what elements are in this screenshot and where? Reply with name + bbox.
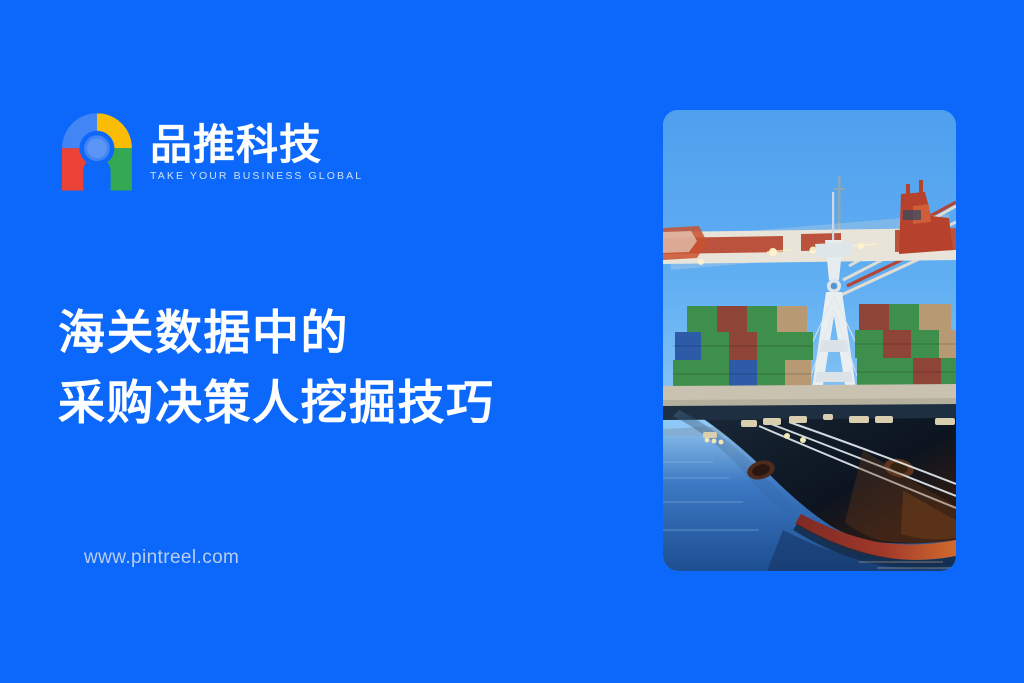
container-ship-photo	[663, 110, 956, 571]
headline-line-2: 采购决策人挖掘技巧	[58, 368, 618, 438]
website-url[interactable]: www.pintreel.com	[84, 547, 239, 569]
brand-logo[interactable]: 品推科技 TAKE YOUR BUSINESS GLOBAL	[62, 113, 363, 191]
brand-logo-text: 品推科技 TAKE YOUR BUSINESS GLOBAL	[150, 122, 363, 182]
page-title: 海关数据中的 采购决策人挖掘技巧	[58, 298, 618, 438]
logo-inner-highlight	[87, 138, 107, 158]
slide-canvas: 品推科技 TAKE YOUR BUSINESS GLOBAL 海关数据中的 采购…	[0, 0, 1024, 683]
headline-line-1: 海关数据中的	[58, 298, 618, 368]
brand-tagline: TAKE YOUR BUSINESS GLOBAL	[150, 170, 363, 182]
pintreel-logo-mark-icon	[62, 113, 138, 191]
hero-photo-card	[663, 110, 956, 571]
brand-name: 品推科技	[150, 124, 363, 167]
